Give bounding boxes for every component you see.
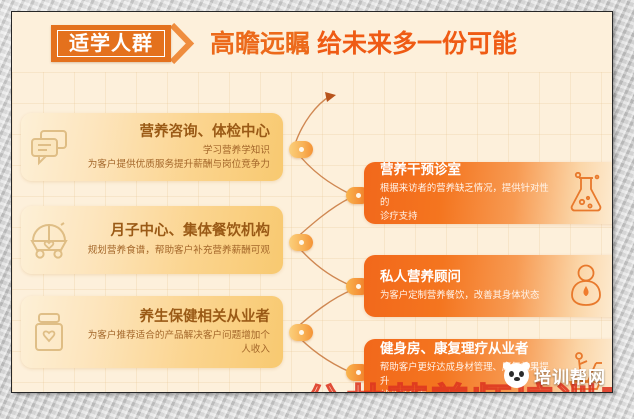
right-card-2-text: 私人营养顾问 为客户定制营养餐饮，改善其身体状态: [364, 269, 557, 303]
header: 适学人群 高瞻远瞩给未来多一份可能: [12, 12, 612, 74]
audience-badge: 适学人群: [51, 25, 171, 62]
page-title: 高瞻远瞩给未来多一份可能: [210, 31, 517, 56]
header-badge-group: 适学人群: [51, 23, 198, 64]
arrow-head: [325, 92, 336, 102]
headline-part-2: 给未来多一份可能: [317, 29, 517, 58]
left-card-1-desc-1: 学习营养学知识: [77, 144, 270, 158]
site-logo: 培训帮网: [504, 363, 606, 388]
left-card-2-title: 月子中心、集体餐饮机构: [77, 222, 270, 240]
right-card-1-desc-2: 诊疗支持: [380, 210, 557, 224]
left-card-3-desc-2: 人收入: [77, 343, 270, 357]
audience-badge-label: 适学人群: [69, 33, 153, 53]
left-card-3-connector-dot: [289, 324, 313, 341]
left-card-2-connector-dot: [289, 234, 313, 251]
headline-part-1: 高瞻远瞩: [210, 29, 310, 58]
left-card-1-text: 营养咨询、体检中心 学习营养学知识 为客户提供优质服务提升薪酬与岗位竞争力: [77, 123, 283, 172]
left-card-1-connector-dot: [289, 141, 313, 158]
panda-face-icon: [504, 363, 529, 388]
left-card-1-desc-2: 为客户提供优质服务提升薪酬与岗位竞争力: [77, 158, 270, 172]
person-icon: [557, 260, 613, 312]
right-card-1-title: 营养干预诊室: [380, 162, 557, 178]
baby-stroller-icon: [21, 212, 77, 268]
right-card-2-desc-1: 为客户定制营养餐饮，改善其身体状态: [380, 289, 557, 303]
right-card-1-desc-1: 根据来访者的营养缺乏情况，提供针对性的: [380, 182, 557, 209]
flask-icon: [557, 167, 613, 219]
left-card-3-title: 养生保健相关从业者: [77, 308, 270, 326]
supplement-bottle-heart-icon: [21, 304, 77, 360]
left-card-3-text: 养生保健相关从业者 为客户推荐适合的产品解决客户问题增加个 人收入: [77, 308, 283, 357]
left-card-1[interactable]: 营养咨询、体检中心 学习营养学知识 为客户提供优质服务提升薪酬与岗位竞争力: [21, 113, 283, 181]
chat-bubbles-icon: [21, 119, 77, 175]
left-card-3[interactable]: 养生保健相关从业者 为客户推荐适合的产品解决客户问题增加个 人收入: [21, 296, 283, 368]
right-card-1[interactable]: 营养干预诊室 根据来访者的营养缺乏情况，提供针对性的 诊疗支持: [364, 162, 613, 224]
left-card-2-desc-1: 规划营养食谱，帮助客户补充营养薪酬可观: [77, 244, 270, 258]
right-card-3-desc-2: 就业竞争力: [380, 389, 557, 393]
right-card-2[interactable]: 私人营养顾问 为客户定制营养餐饮，改善其身体状态: [364, 255, 613, 317]
left-card-2[interactable]: 月子中心、集体餐饮机构 规划营养食谱，帮助客户补充营养薪酬可观: [21, 206, 283, 274]
right-card-3-title: 健身房、康复理疗从业者: [380, 341, 557, 357]
site-logo-label: 培训帮网: [534, 363, 606, 388]
left-card-1-title: 营养咨询、体检中心: [77, 123, 270, 141]
left-card-2-text: 月子中心、集体餐饮机构 规划营养食谱，帮助客户补充营养薪酬可观: [77, 222, 283, 257]
right-card-1-text: 营养干预诊室 根据来访者的营养缺乏情况，提供针对性的 诊疗支持: [364, 162, 557, 224]
poster-panel: 适学人群 高瞻远瞩给未来多一份可能: [11, 11, 613, 393]
chevron-right-icon: [170, 23, 198, 64]
left-card-3-desc-1: 为客户推荐适合的产品解决客户问题增加个: [77, 329, 270, 343]
audience-badge-inner-border: 适学人群: [57, 30, 165, 57]
right-card-2-title: 私人营养顾问: [380, 269, 557, 285]
